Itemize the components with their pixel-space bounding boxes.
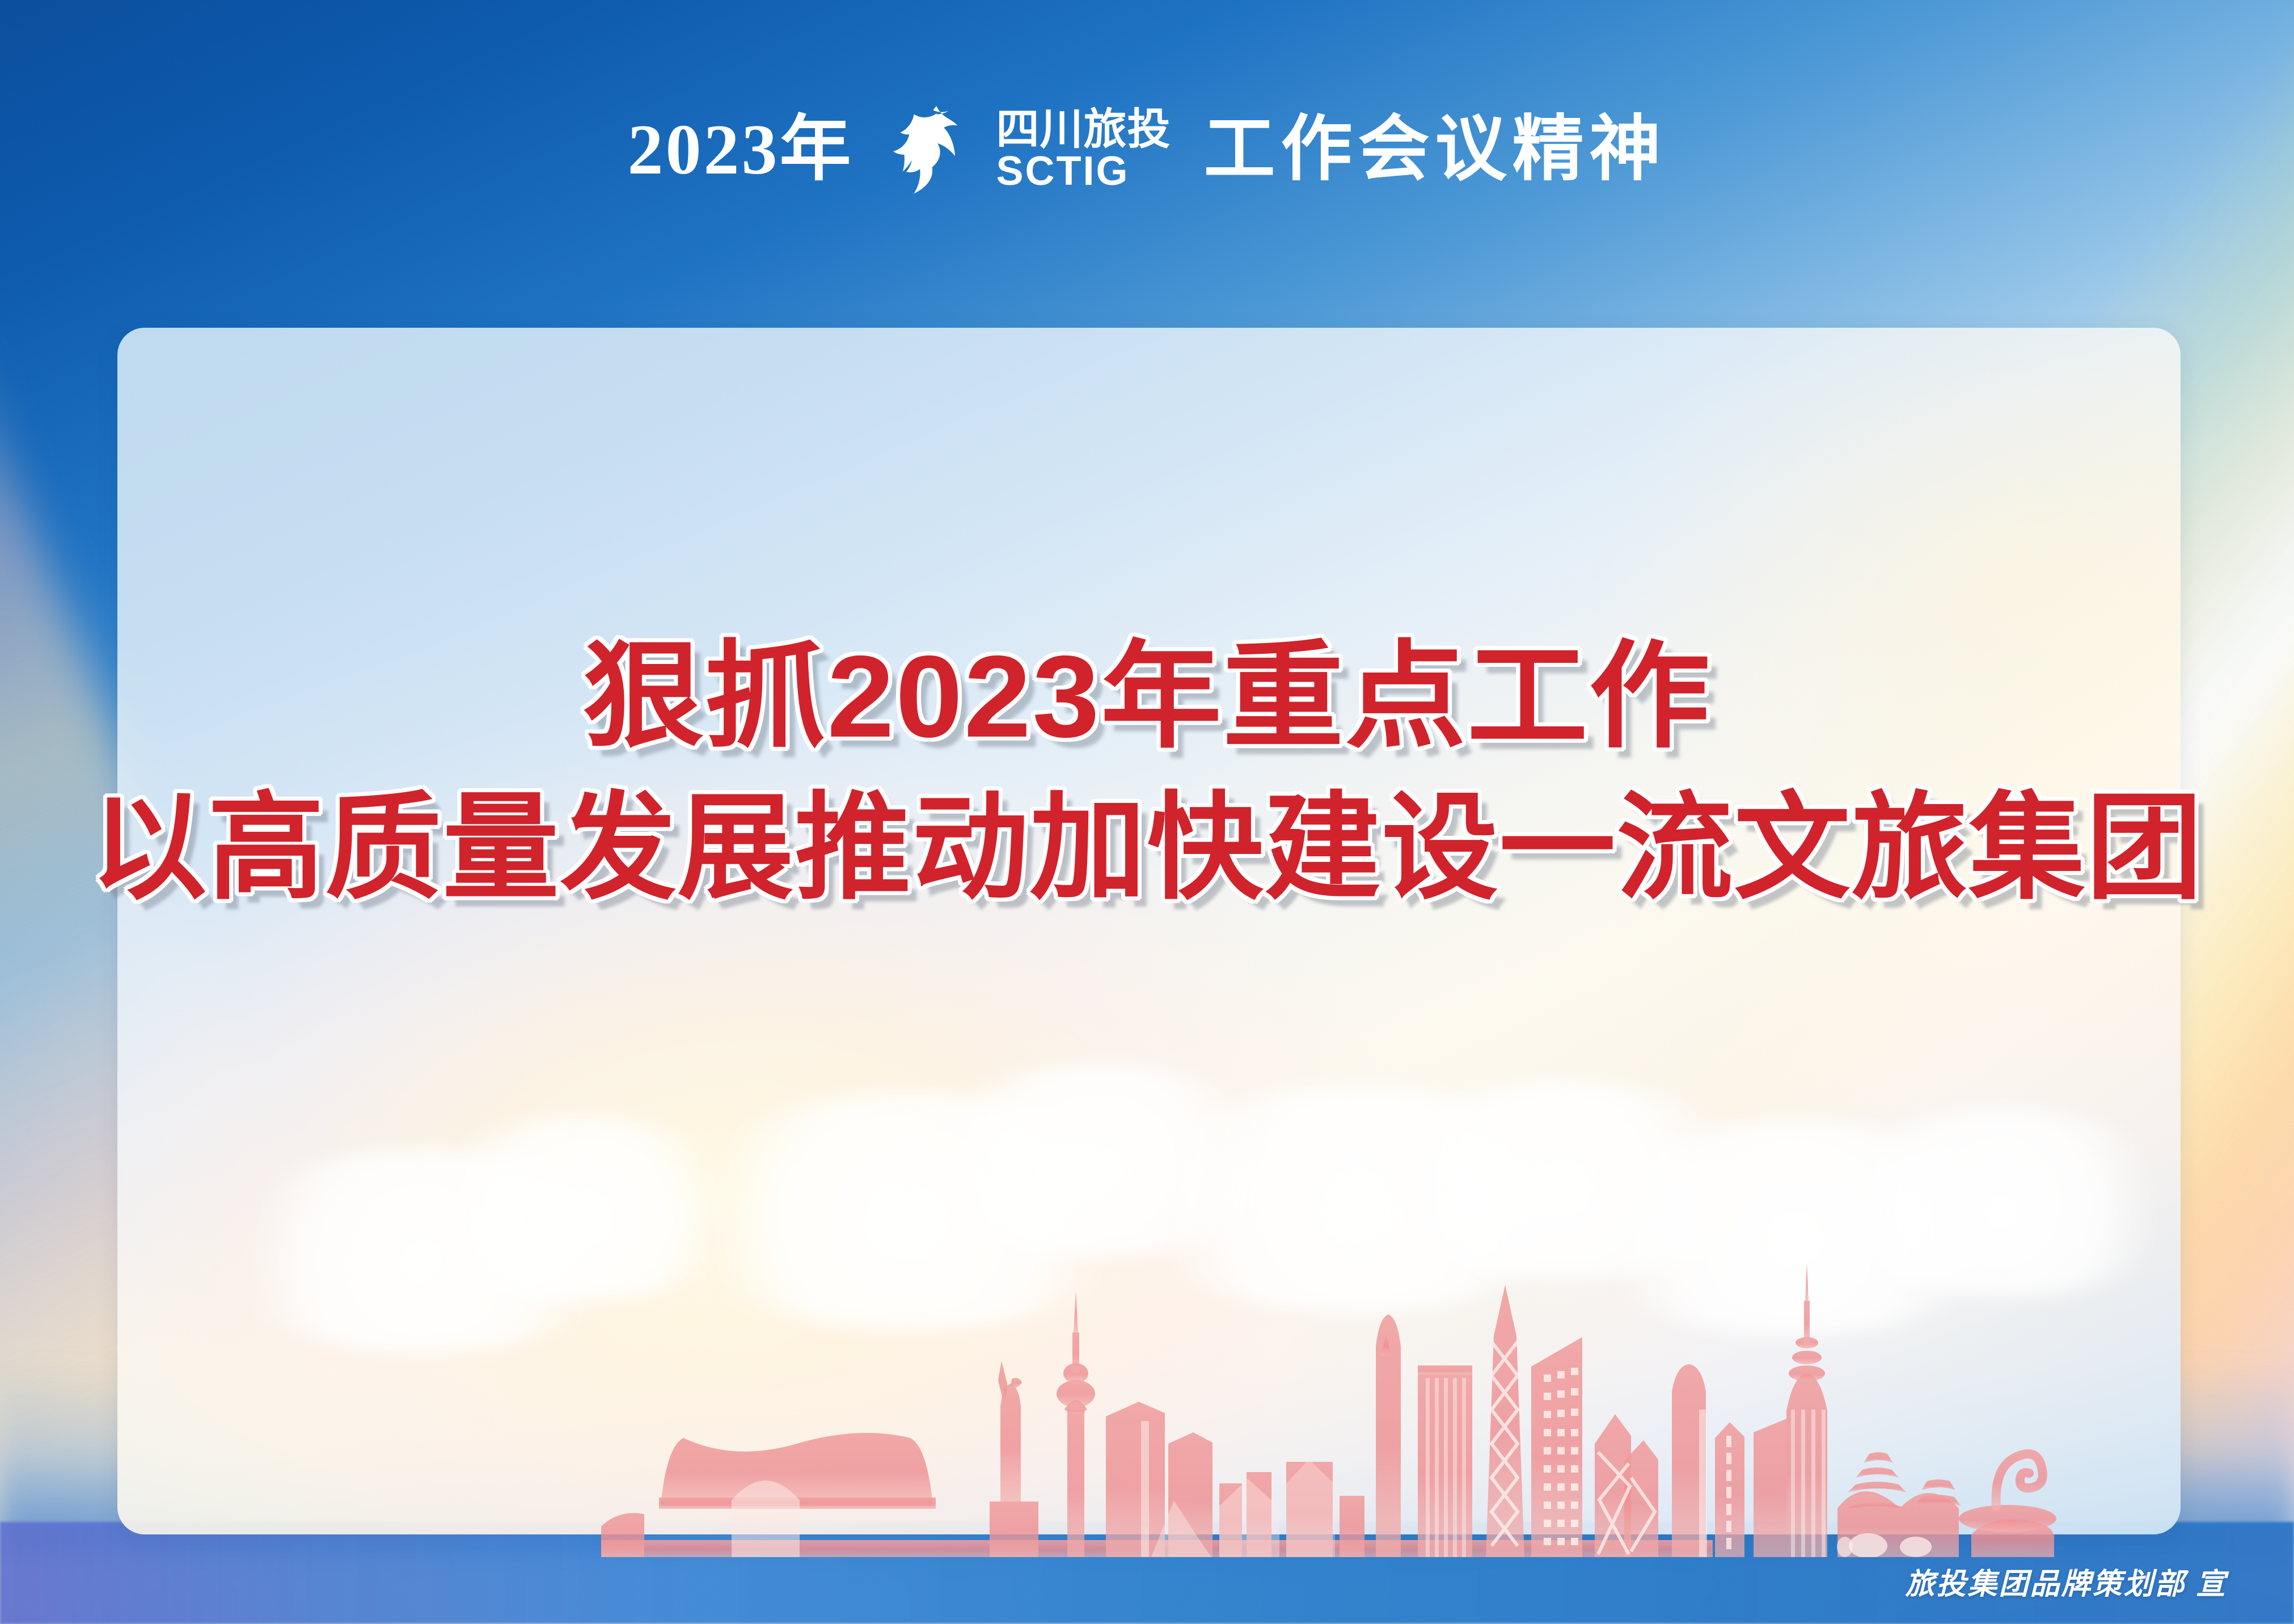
header-theme-label: 工作会议精神 (1204, 115, 1667, 186)
brand-logo-wordmark: 四川旅投 SCTIG (996, 109, 1171, 191)
brand-name-en: SCTIG (996, 151, 1130, 192)
main-title-line-1: 狠抓2023年重点工作 (0, 635, 2294, 758)
brand-logo: 四川旅投 SCTIG (886, 103, 1171, 198)
sctig-panda-globe-logo-icon (886, 103, 982, 198)
poster-canvas: 2023年 四川旅投 SCTIG 工作会议精神 (0, 0, 2294, 1624)
main-title-line-2: 以高质量发展推动加快建设一流文旅集团 (0, 786, 2294, 910)
brand-name-cn: 四川旅投 (996, 109, 1171, 151)
poster-header: 2023年 四川旅投 SCTIG 工作会议精神 (0, 85, 2294, 215)
watercolor-cloud-band-icon (117, 967, 2181, 1398)
header-year-label: 2023年 (628, 115, 854, 186)
footer-credit: 旅投集团品牌策划部 宣 (1906, 1560, 2227, 1602)
content-card (117, 328, 2181, 1534)
main-title: 狠抓2023年重点工作 以高质量发展推动加快建设一流文旅集团 (0, 635, 2294, 910)
